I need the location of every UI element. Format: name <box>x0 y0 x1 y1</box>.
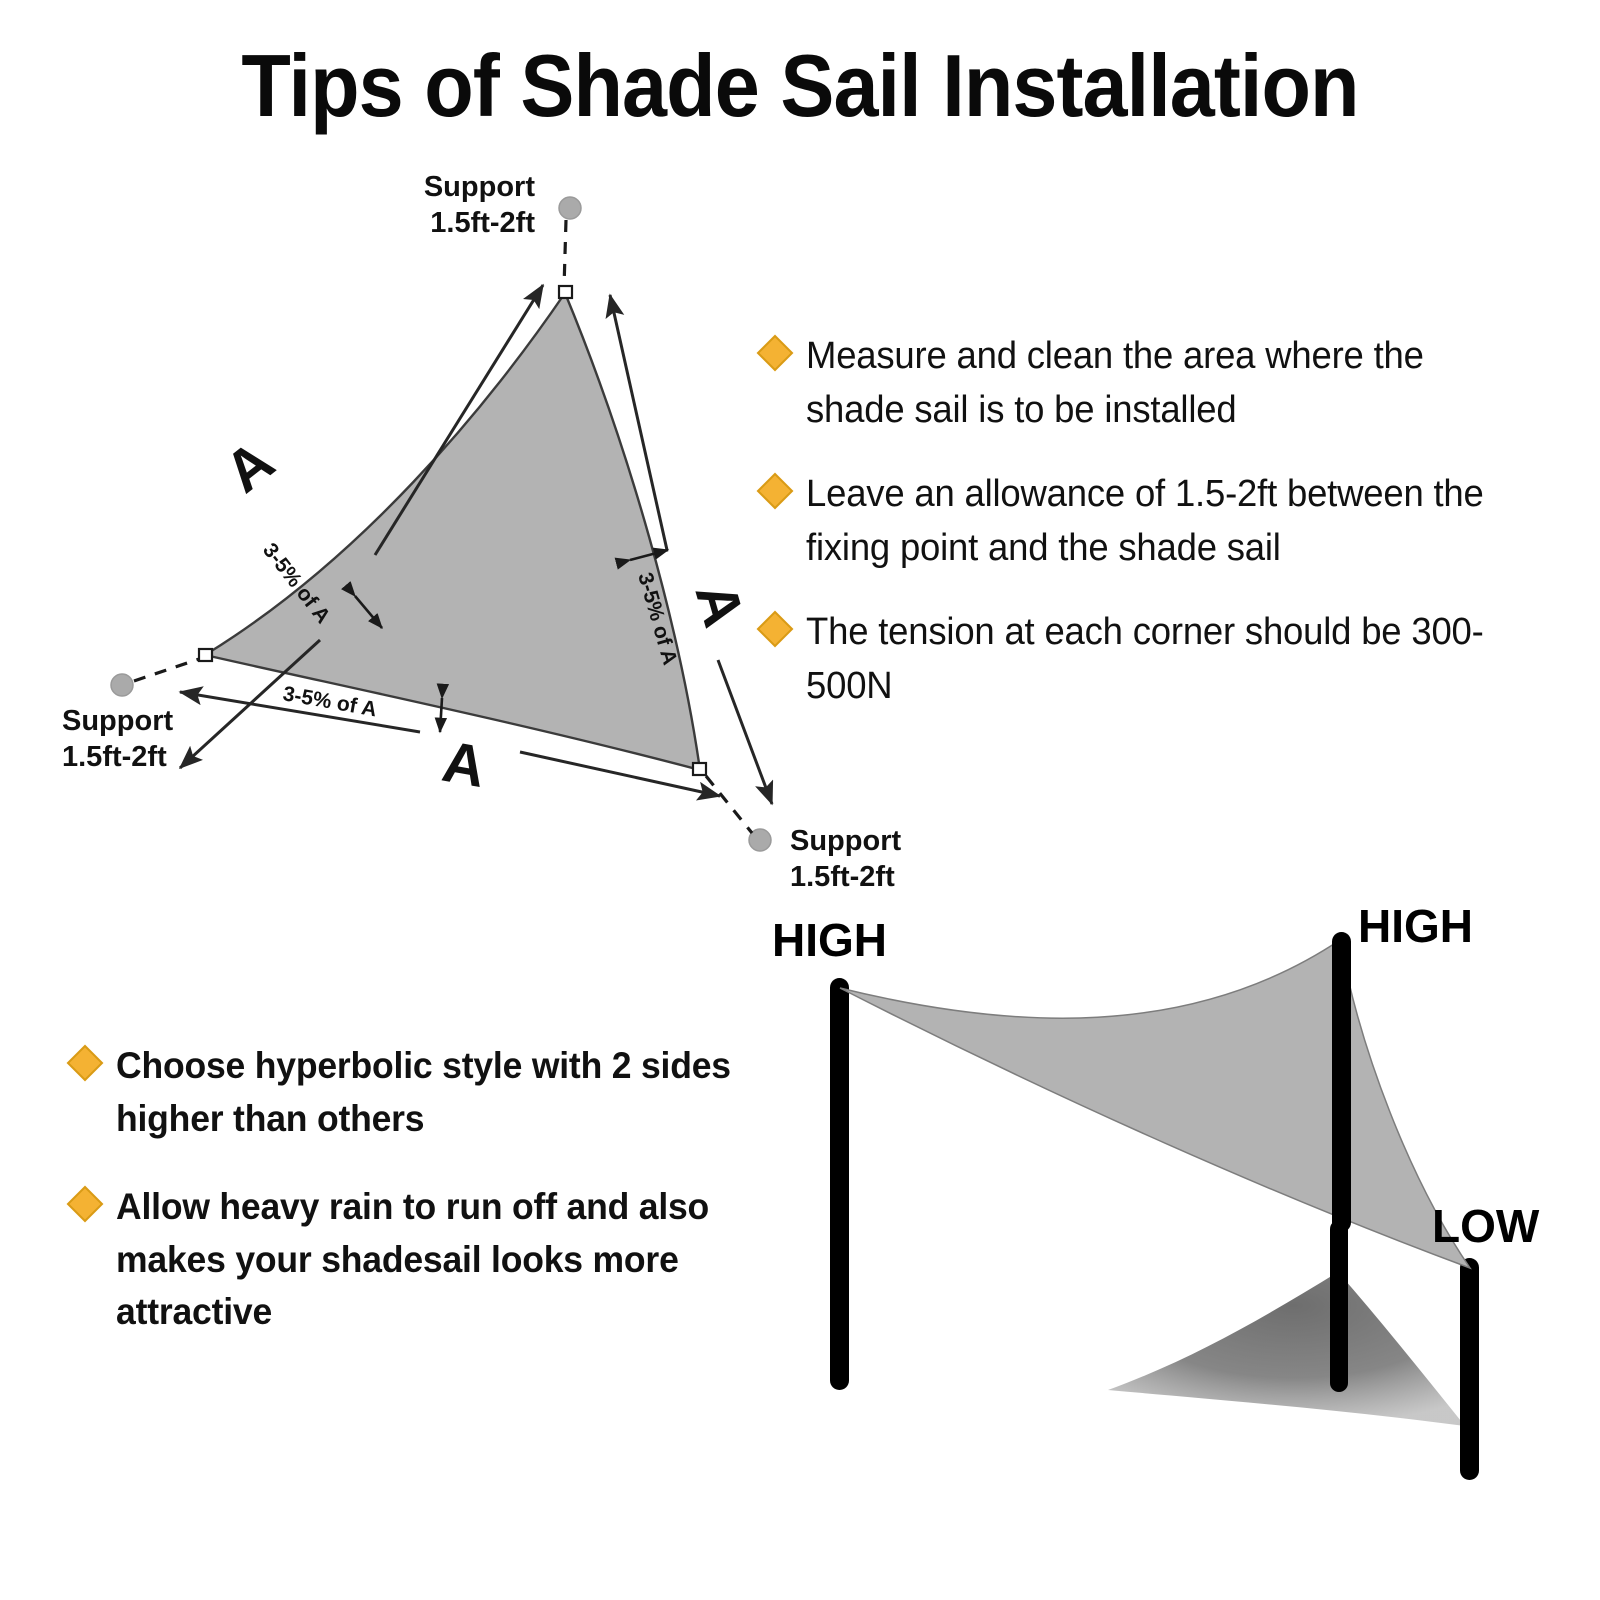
support-dot-top <box>559 197 581 219</box>
support-dashed-line-bottom-right <box>706 776 752 833</box>
left-post <box>830 978 849 1390</box>
list-item: Allow heavy rain to run off and also mak… <box>72 1181 782 1339</box>
support-label-top-line1: Support <box>424 171 535 203</box>
list-item-label: Measure and clean the area where the sha… <box>806 330 1493 438</box>
sail-shadow <box>1108 1272 1465 1426</box>
list-item-label: The tension at each corner should be 300… <box>806 606 1493 714</box>
support-dashed-line-left <box>134 658 202 681</box>
list-item-label: Choose hyperbolic style with 2 sides hig… <box>116 1040 755 1145</box>
corner-ring-bottom-right <box>693 763 706 775</box>
support-dot-left <box>111 674 133 696</box>
list-item: Leave an allowance of 1.5-2ft between th… <box>762 468 1522 576</box>
diamond-bullet-icon <box>67 1045 104 1082</box>
list-item: Measure and clean the area where the sha… <box>762 330 1522 438</box>
right-post <box>1332 932 1351 1232</box>
support-top: Support 1.5ft-2ft <box>424 171 581 298</box>
diamond-bullet-icon <box>757 335 794 372</box>
support-label-bottom-right-line1: Support <box>790 825 901 857</box>
edge-label-a-bottom: A <box>438 729 491 800</box>
support-left: Support 1.5ft-2ft <box>62 649 212 773</box>
list-item-label: Allow heavy rain to run off and also mak… <box>116 1181 755 1339</box>
corner-ring-top <box>559 286 572 298</box>
page-title: Tips of Shade Sail Installation <box>64 42 1536 130</box>
left-post-label: HIGH <box>772 914 887 966</box>
installation-tips-list: Measure and clean the area where the sha… <box>762 330 1522 744</box>
edge-label-a-left: A <box>213 428 286 505</box>
support-label-left-line1: Support <box>62 705 173 737</box>
support-dashed-line-top <box>564 220 566 288</box>
hyperbolic-sail-shape <box>840 940 1470 1268</box>
right-post-label: HIGH <box>1358 900 1473 952</box>
list-item: Choose hyperbolic style with 2 sides hig… <box>72 1040 782 1145</box>
support-label-bottom-right-line2: 1.5ft-2ft <box>790 861 895 890</box>
support-label-top-line2: 1.5ft-2ft <box>430 207 535 239</box>
front-low-post-label: LOW <box>1432 1200 1540 1252</box>
diamond-bullet-icon <box>757 473 794 510</box>
support-label-left-line2: 1.5ft-2ft <box>62 741 167 773</box>
diamond-bullet-icon <box>67 1186 104 1223</box>
corner-ring-left <box>199 649 212 661</box>
diamond-bullet-icon <box>757 610 794 647</box>
hyperbolic-tips-list: Choose hyperbolic style with 2 sides hig… <box>72 1040 782 1375</box>
list-item: The tension at each corner should be 300… <box>762 606 1522 714</box>
support-bottom-right: Support 1.5ft-2ft <box>693 763 901 890</box>
front-low-post <box>1460 1258 1479 1480</box>
back-low-post <box>1330 1220 1348 1392</box>
hyperbolic-shade-sail-height-diagram: HIGH HIGH LOW <box>760 890 1590 1530</box>
list-item-label: Leave an allowance of 1.5-2ft between th… <box>806 468 1493 576</box>
edge-label-a-right: A <box>683 576 757 634</box>
